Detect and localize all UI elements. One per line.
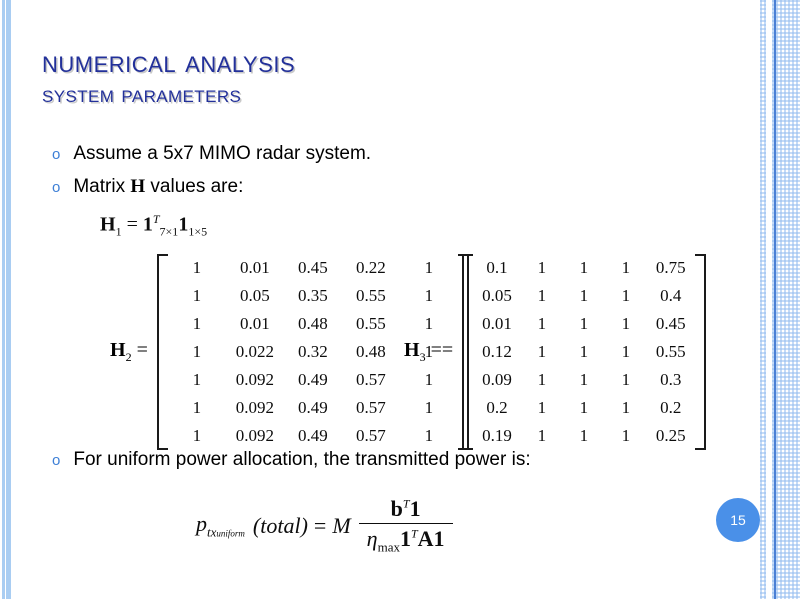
page-title: Numerical Analysis <box>42 44 295 80</box>
matrix-row: 0.011110.45 <box>473 310 695 338</box>
matrix-cell: 0.75 <box>647 254 695 282</box>
formula-lhs: ptxuniform <box>196 511 245 540</box>
formula-numerator-b: b <box>391 496 403 521</box>
matrix-cell: 0.57 <box>342 422 400 450</box>
matrix-h2-operator: = <box>137 339 148 361</box>
bullet-text-segment: Assume a 5x7 MIMO radar system. <box>73 143 371 164</box>
matrix-row: 0.121110.55 <box>473 338 695 366</box>
formula-operator: = <box>314 513 326 539</box>
bullet-text-segment: Matrix <box>73 176 130 197</box>
matrix-cell: 0.22 <box>342 254 400 282</box>
matrix-cell: 0.49 <box>284 394 342 422</box>
matrix-cell: 0.32 <box>284 338 342 366</box>
matrix-cell: 0.01 <box>226 310 284 338</box>
matrix-cell: 1 <box>605 282 647 310</box>
matrix-cell: 0.2 <box>647 394 695 422</box>
matrix-cell: 0.55 <box>647 338 695 366</box>
matrix-h3-operator: == <box>431 339 454 361</box>
right-border-gap <box>766 0 772 599</box>
matrix-h3-rows: 0.11110.750.051110.40.011110.450.121110.… <box>473 254 695 450</box>
matrix-cell: 1 <box>563 394 605 422</box>
matrix-cell: 1 <box>521 310 563 338</box>
matrix-cell: 1 <box>521 338 563 366</box>
matrix-cell: 0.57 <box>342 394 400 422</box>
bullet-text-segment: For uniform power allocation, the transm… <box>73 449 530 470</box>
bullet-marker-icon: o <box>52 453 60 468</box>
matrix-cell: 0.4 <box>647 282 695 310</box>
bullet-item-assume: o Assume a 5x7 MIMO radar system. <box>52 143 371 165</box>
matrix-h3-left-bracket <box>462 254 473 450</box>
matrix-cell: 0.01 <box>226 254 284 282</box>
matrix-cell: 0.3 <box>647 366 695 394</box>
matrix-h3: H3 == 0.11110.750.051110.40.011110.450.1… <box>404 254 706 450</box>
matrix-cell: 1 <box>605 310 647 338</box>
matrix-h2-left-bracket <box>157 254 168 450</box>
matrix-cell: 0.48 <box>284 310 342 338</box>
matrix-cell: 0.49 <box>284 422 342 450</box>
matrix-cell: 0.57 <box>342 366 400 394</box>
matrix-cell: 1 <box>168 310 226 338</box>
matrix-h3-label-symbol: H <box>404 339 420 361</box>
formula-denominator-eta: η <box>367 526 378 551</box>
matrix-cell: 0.35 <box>284 282 342 310</box>
matrix-cell: 0.25 <box>647 422 695 450</box>
formula-lhs-subsubscript: uniform <box>216 529 245 539</box>
bullet-symbol-H: H <box>130 176 145 197</box>
bullet-text: Matrix H values are: <box>73 176 243 198</box>
matrix-cell: 0.45 <box>284 254 342 282</box>
equation-h1-term1-symbol: 1 <box>143 214 153 236</box>
matrix-h2-label-subscript: 2 <box>126 350 132 364</box>
matrix-cell: 0.55 <box>342 282 400 310</box>
matrix-h3-label-subscript: 3 <box>420 350 426 364</box>
matrix-cell: 0.19 <box>473 422 521 450</box>
right-accent-rule <box>774 0 776 599</box>
matrix-cell: 1 <box>563 310 605 338</box>
matrix-cell: 1 <box>168 254 226 282</box>
matrix-cell: 1 <box>563 338 605 366</box>
matrix-h2-label-symbol: H <box>110 339 126 361</box>
equation-h1-lhs-symbol: H <box>100 214 116 236</box>
matrix-cell: 0.022 <box>226 338 284 366</box>
matrix-cell: 0.48 <box>342 338 400 366</box>
formula-denominator: ηmax1TA1 <box>359 523 453 555</box>
matrix-row: 0.21110.2 <box>473 394 695 422</box>
formula-fraction: bT1 ηmax1TA1 <box>359 496 453 556</box>
matrix-cell: 0.45 <box>647 310 695 338</box>
equation-h1: H1 = 1T7×111×5 <box>100 212 207 240</box>
formula-numerator-one: 1 <box>410 496 421 521</box>
bullet-item-matrix-h: o Matrix H values are: <box>52 176 243 198</box>
formula-denominator-one: 1 <box>400 526 411 551</box>
matrix-h3-label: H3 == <box>404 339 453 365</box>
title-block: Numerical Analysis System Parameters <box>42 44 295 110</box>
formula-denominator-transpose: T <box>411 527 418 541</box>
matrix-row: 0.051110.4 <box>473 282 695 310</box>
bullet-text: For uniform power allocation, the transm… <box>73 449 530 471</box>
matrix-cell: 1 <box>521 394 563 422</box>
matrix-cell: 0.1 <box>473 254 521 282</box>
equation-h1-operator: = <box>127 214 138 236</box>
matrix-cell: 1 <box>563 254 605 282</box>
bullet-marker-icon: o <box>52 180 60 195</box>
matrix-cell: 0.092 <box>226 422 284 450</box>
formula-denominator-eta-subscript: max <box>378 540 400 555</box>
matrix-cell: 0.09 <box>473 366 521 394</box>
left-decorative-border <box>0 0 14 599</box>
matrix-cell: 1 <box>605 338 647 366</box>
matrix-cell: 1 <box>521 282 563 310</box>
matrix-cell: 0.2 <box>473 394 521 422</box>
matrix-cell: 1 <box>168 394 226 422</box>
equation-h1-term2-subscript: 1×5 <box>188 225 207 239</box>
page-number-badge: 15 <box>716 498 760 542</box>
equation-h1-term2-symbol: 1 <box>178 214 188 236</box>
matrix-cell: 1 <box>168 422 226 450</box>
matrix-cell: 0.49 <box>284 366 342 394</box>
matrix-cell: 1 <box>605 366 647 394</box>
matrix-cell: 0.01 <box>473 310 521 338</box>
matrix-cell: 1 <box>563 422 605 450</box>
matrix-cell: 1 <box>168 338 226 366</box>
formula-lhs-subscript: tx <box>207 525 216 540</box>
matrix-cell: 1 <box>563 282 605 310</box>
matrix-cell: 1 <box>521 366 563 394</box>
matrix-cell: 0.05 <box>226 282 284 310</box>
formula-numerator: bT1 <box>383 496 429 523</box>
formula-transmitted-power: ptxuniform (total) = M bT1 ηmax1TA1 <box>196 496 453 556</box>
matrix-cell: 1 <box>521 254 563 282</box>
matrix-row: 0.091110.3 <box>473 366 695 394</box>
matrix-cell: 0.05 <box>473 282 521 310</box>
formula-argument: (total) <box>253 513 308 539</box>
matrix-row: 0.11110.75 <box>473 254 695 282</box>
matrix-h3-right-bracket <box>695 254 706 450</box>
matrix-cell: 1 <box>605 254 647 282</box>
matrix-h2-label: H2 = <box>110 339 148 365</box>
slide-canvas: Numerical Analysis System Parameters o A… <box>0 0 800 599</box>
bullet-item-uniform-power: o For uniform power allocation, the tran… <box>52 449 531 471</box>
equation-h1-lhs-subscript: 1 <box>116 225 122 239</box>
matrix-cell: 1 <box>605 394 647 422</box>
bullet-text-segment: values are: <box>145 176 243 197</box>
formula-multiplier: M <box>332 513 350 539</box>
matrix-cell: 0.092 <box>226 394 284 422</box>
bullet-marker-icon: o <box>52 147 60 162</box>
matrix-cell: 1 <box>168 366 226 394</box>
right-decorative-border <box>758 0 800 599</box>
formula-lhs-variable: p <box>196 511 207 536</box>
matrix-cell: 1 <box>605 422 647 450</box>
matrix-cell: 1 <box>563 366 605 394</box>
formula-numerator-transpose: T <box>403 497 410 511</box>
matrix-cell: 0.092 <box>226 366 284 394</box>
matrix-row: 0.191110.25 <box>473 422 695 450</box>
matrix-cell: 1 <box>521 422 563 450</box>
matrix-cell: 0.55 <box>342 310 400 338</box>
equation-h1-term1-subscript: 7×1 <box>160 225 179 239</box>
matrix-cell: 1 <box>168 282 226 310</box>
matrix-cell: 0.12 <box>473 338 521 366</box>
formula-denominator-A1: A1 <box>418 526 445 551</box>
page-subtitle: System Parameters <box>42 80 295 110</box>
matrix-h3-body: 0.11110.750.051110.40.011110.450.121110.… <box>462 254 706 450</box>
matrix-h3-table: 0.11110.750.051110.40.011110.450.121110.… <box>473 254 695 450</box>
equation-h1-term1-superscript: T <box>153 212 160 226</box>
bullet-text: Assume a 5x7 MIMO radar system. <box>73 143 371 165</box>
